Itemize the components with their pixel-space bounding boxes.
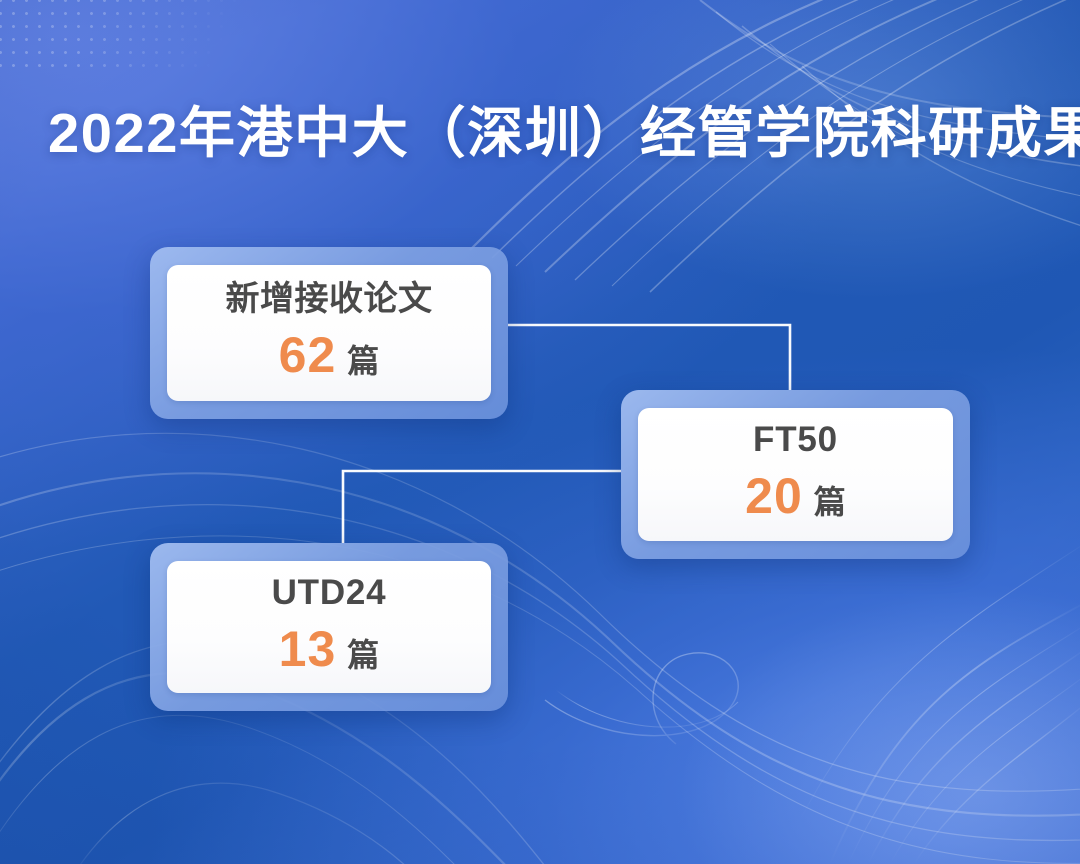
card-ft50-label: FT50 <box>753 420 838 460</box>
poster-canvas: 2022年港中大（深圳）经管学院科研成果 新增接收论文 62 篇 FT50 20… <box>0 0 1080 864</box>
page-title: 2022年港中大（深圳）经管学院科研成果 <box>48 98 1058 168</box>
card-papers-inner: 新增接收论文 62 篇 <box>167 265 491 401</box>
card-utd24-number: 13 <box>279 622 337 676</box>
card-ft50-value: 20 篇 <box>745 469 846 529</box>
card-utd24-value: 13 篇 <box>279 622 380 682</box>
card-utd24-unit: 篇 <box>347 628 379 682</box>
card-ft50[interactable]: FT50 20 篇 <box>621 390 970 559</box>
card-papers-label: 新增接收论文 <box>226 279 433 319</box>
card-papers-unit: 篇 <box>347 334 379 388</box>
card-ft50-unit: 篇 <box>814 475 846 529</box>
card-papers-value: 62 篇 <box>279 328 380 388</box>
card-utd24[interactable]: UTD24 13 篇 <box>150 543 508 711</box>
card-papers-number: 62 <box>279 328 337 382</box>
card-ft50-number: 20 <box>745 469 803 523</box>
card-ft50-inner: FT50 20 篇 <box>638 408 953 541</box>
card-utd24-inner: UTD24 13 篇 <box>167 561 491 693</box>
card-papers[interactable]: 新增接收论文 62 篇 <box>150 247 508 419</box>
card-utd24-label: UTD24 <box>272 573 387 613</box>
